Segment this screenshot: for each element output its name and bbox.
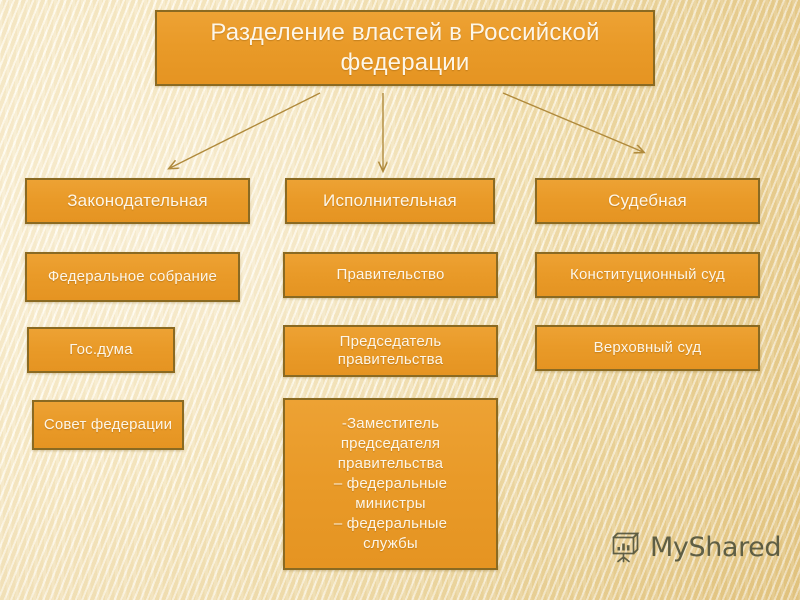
node-federal-assembly: Федеральное собрание	[25, 252, 240, 302]
arrow-to-legislative	[170, 93, 320, 168]
deputy-line: правительства	[338, 455, 443, 472]
branch-header-executive: Исполнительная	[285, 178, 495, 224]
slide-canvas: Разделение властей в Российской федераци…	[0, 0, 800, 600]
deputy-line: -Заместитель	[342, 415, 439, 432]
branch-header-judicial: Судебная	[535, 178, 760, 224]
slide-title: Разделение властей в Российской федераци…	[155, 10, 655, 86]
node-federation-council: Совет федерации	[32, 400, 184, 450]
deputy-line: председателя	[341, 435, 440, 452]
deputy-line: – федеральные	[334, 515, 447, 532]
watermark: MyShared	[608, 530, 781, 564]
node-constitutional-court: Конституционный суд	[535, 252, 760, 298]
deputy-line: министры	[355, 495, 425, 512]
node-chairman-of-government: Председатель правительства	[283, 325, 498, 377]
branch-header-legislative: Законодательная	[25, 178, 250, 224]
deputy-block-lines: -Заместитель председателя правительства …	[334, 414, 447, 554]
node-state-duma: Гос.дума	[27, 327, 175, 373]
deputy-line: – федеральные	[334, 475, 447, 492]
watermark-text: MyShared	[650, 532, 781, 563]
node-government: Правительство	[283, 252, 498, 298]
node-deputy-chairman-block: -Заместитель председателя правительства …	[283, 398, 498, 570]
node-supreme-court: Верховный суд	[535, 325, 760, 371]
presentation-board-icon	[608, 530, 642, 564]
deputy-line: службы	[363, 535, 418, 552]
arrow-to-judicial	[503, 93, 643, 152]
